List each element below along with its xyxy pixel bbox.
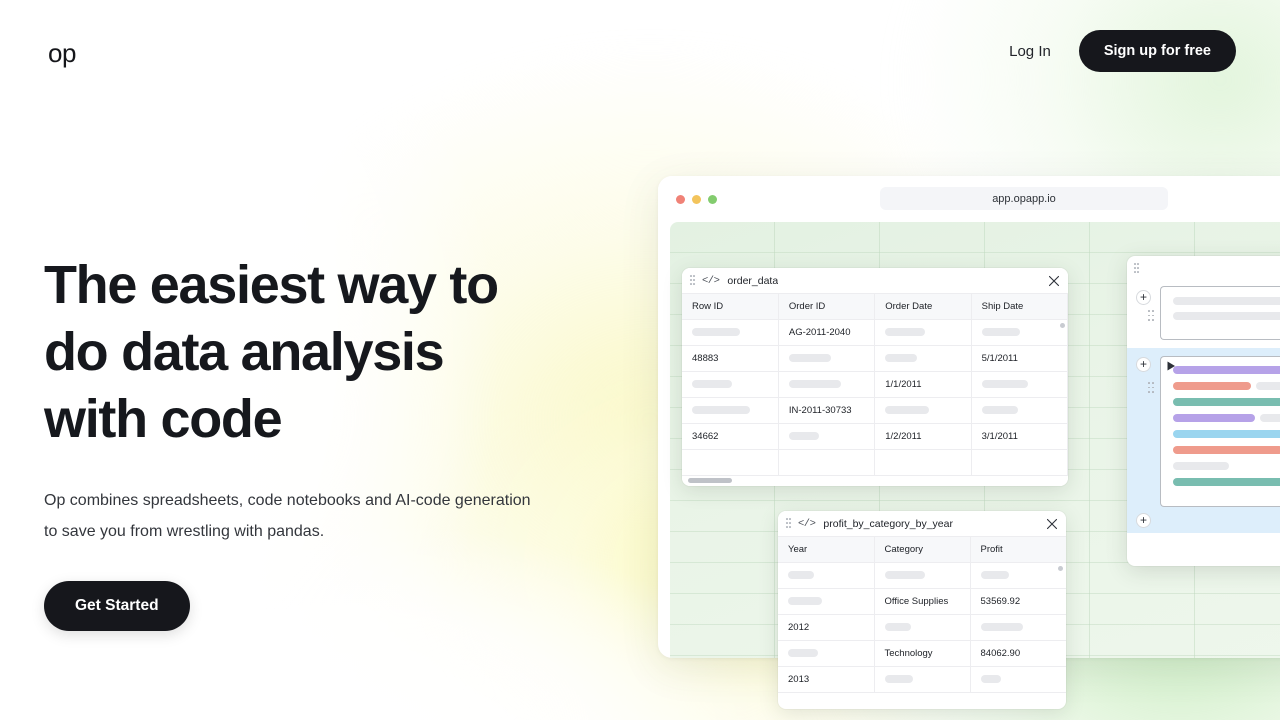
table-cell[interactable]: 5/1/2011 — [971, 346, 1067, 372]
table-cell[interactable]: 84062.90 — [970, 641, 1066, 667]
table-cell[interactable] — [970, 563, 1066, 589]
landing-page: op Log In Sign up for free The easiest w… — [0, 0, 1280, 720]
column-header[interactable]: Ship Date — [971, 294, 1067, 320]
table-header-row: Row IDOrder IDOrder DateShip Date — [682, 294, 1068, 320]
placeholder-bar — [789, 354, 831, 362]
cell-drag-handle-icon[interactable] — [1148, 382, 1154, 394]
placeholder-bar — [982, 328, 1020, 336]
table-cell[interactable] — [682, 398, 778, 424]
table-cell[interactable]: 48883 — [682, 346, 778, 372]
maximize-window-dot[interactable] — [708, 195, 717, 204]
column-header[interactable]: Row ID — [682, 294, 778, 320]
placeholder-bar — [885, 623, 911, 631]
subtitle-line-2: to save you from wrestling with pandas. — [44, 516, 574, 547]
horizontal-scrollbar-thumb[interactable] — [688, 478, 732, 483]
table-cell[interactable]: Technology — [874, 641, 970, 667]
table-cell[interactable]: IN-2011-30733 — [778, 398, 874, 424]
table-row[interactable]: 2012 — [778, 615, 1066, 641]
code-token — [1173, 430, 1280, 438]
placeholder-bar — [885, 354, 917, 362]
subtitle-line-1: Op combines spreadsheets, code notebooks… — [44, 485, 574, 516]
table-cell[interactable] — [874, 563, 970, 589]
traffic-lights — [676, 195, 717, 204]
header-nav: Log In Sign up for free — [1003, 30, 1236, 72]
code-line — [1173, 366, 1280, 374]
table-cell[interactable] — [875, 346, 971, 372]
get-started-button[interactable]: Get Started — [44, 581, 190, 631]
table-row[interactable]: 488835/1/2011 — [682, 346, 1068, 372]
table-row[interactable] — [682, 450, 1068, 476]
code-token — [1260, 414, 1280, 422]
headline-line-2: do data analysis — [44, 319, 624, 386]
table-cell[interactable] — [682, 320, 778, 346]
code-token — [1173, 398, 1280, 406]
headline-line-3: with code — [44, 386, 624, 453]
table-cell[interactable] — [778, 450, 874, 476]
code-line — [1173, 382, 1280, 390]
address-bar-url: app.opapp.io — [992, 193, 1056, 205]
table-cell[interactable] — [778, 424, 874, 450]
table-cell[interactable] — [970, 667, 1066, 693]
table-cell[interactable]: 1/2/2011 — [875, 424, 971, 450]
table-cell[interactable] — [778, 372, 874, 398]
panel-order-data[interactable]: </> order_data Row IDOrder IDOrder DateS… — [682, 268, 1068, 486]
code-line — [1173, 398, 1280, 406]
play-icon[interactable] — [1165, 359, 1177, 371]
browser-chrome: app.opapp.io — [658, 176, 1280, 222]
close-icon[interactable] — [1046, 518, 1058, 530]
panel-profit-header[interactable]: </> profit_by_category_by_year — [778, 511, 1066, 536]
code-line — [1173, 446, 1280, 454]
code-token — [1173, 414, 1255, 422]
table-cell[interactable] — [971, 320, 1067, 346]
code-token — [1173, 446, 1280, 454]
table-cell[interactable] — [970, 615, 1066, 641]
table-row[interactable]: AG-2011-2040 — [682, 320, 1068, 346]
cell-drag-handle-icon[interactable] — [1148, 310, 1154, 322]
close-icon[interactable] — [1048, 275, 1060, 287]
table-cell[interactable]: 3/1/2011 — [971, 424, 1067, 450]
notebook-cell-content[interactable] — [1160, 286, 1280, 340]
placeholder-bar — [788, 649, 818, 657]
table-profit-by-category[interactable]: YearCategoryProfitOffice Supplies53569.9… — [778, 536, 1066, 693]
headline-line-1: The easiest way to — [44, 252, 624, 319]
code-line — [1173, 430, 1280, 438]
table-cell[interactable] — [778, 563, 874, 589]
code-icon: </> — [702, 275, 719, 287]
code-token — [1173, 382, 1251, 390]
add-cell-button[interactable]: + — [1136, 357, 1151, 372]
placeholder-bar — [692, 328, 740, 336]
table-cell[interactable]: 2013 — [778, 667, 874, 693]
placeholder-bar — [981, 571, 1009, 579]
horizontal-scrollbar[interactable] — [682, 476, 1068, 486]
code-token — [1173, 366, 1280, 374]
panel-order-data-title: order_data — [727, 275, 778, 287]
placeholder-bar — [981, 623, 1023, 631]
table-row[interactable] — [778, 563, 1066, 589]
skeleton-line — [1173, 297, 1280, 305]
placeholder-bar — [885, 406, 929, 414]
panel-profit-by-category-by-year[interactable]: </> profit_by_category_by_year YearCateg… — [778, 511, 1066, 709]
table-row[interactable]: Office Supplies53569.92 — [778, 589, 1066, 615]
table-cell[interactable] — [875, 398, 971, 424]
table-cell[interactable] — [682, 372, 778, 398]
table-row[interactable]: Technology84062.90 — [778, 641, 1066, 667]
table-cell[interactable]: 53569.92 — [970, 589, 1066, 615]
address-bar[interactable]: app.opapp.io — [880, 187, 1168, 210]
placeholder-bar — [982, 406, 1018, 414]
add-cell-button-bottom[interactable]: + — [1136, 513, 1151, 528]
table-cell[interactable] — [778, 589, 874, 615]
hero-section: The easiest way to do data analysis with… — [44, 252, 624, 631]
column-header[interactable]: Profit — [970, 537, 1066, 563]
skeleton-line — [1173, 312, 1280, 320]
brand-logo[interactable]: op — [48, 40, 76, 66]
placeholder-bar — [982, 380, 1028, 388]
login-link[interactable]: Log In — [1003, 35, 1057, 68]
table-cell[interactable] — [971, 398, 1067, 424]
close-window-dot[interactable] — [676, 195, 685, 204]
column-header[interactable]: Category — [874, 537, 970, 563]
placeholder-bar — [981, 675, 1001, 683]
panel-profit-title: profit_by_category_by_year — [823, 518, 953, 530]
table-cell[interactable] — [778, 346, 874, 372]
table-cell[interactable]: Office Supplies — [874, 589, 970, 615]
table-cell[interactable] — [971, 372, 1067, 398]
column-header[interactable]: Order Date — [875, 294, 971, 320]
vertical-scrollbar[interactable] — [1060, 323, 1065, 328]
drag-handle-icon[interactable] — [786, 518, 791, 529]
table-cell[interactable]: 2012 — [778, 615, 874, 641]
signup-button[interactable]: Sign up for free — [1079, 30, 1236, 72]
placeholder-bar — [885, 328, 925, 336]
hero-subtitle: Op combines spreadsheets, code notebooks… — [44, 485, 574, 547]
notebook-cell-code-selected[interactable]: + + — [1127, 348, 1280, 533]
page-title: The easiest way to do data analysis with… — [44, 252, 624, 453]
placeholder-bar — [885, 675, 913, 683]
table-header-row: YearCategoryProfit — [778, 537, 1066, 563]
table-row[interactable]: 1/1/2011 — [682, 372, 1068, 398]
table-cell[interactable] — [778, 641, 874, 667]
table-cell[interactable] — [874, 667, 970, 693]
placeholder-bar — [789, 432, 819, 440]
vertical-scrollbar[interactable] — [1058, 566, 1063, 571]
column-header[interactable]: Order ID — [778, 294, 874, 320]
table-cell[interactable]: AG-2011-2040 — [778, 320, 874, 346]
table-cell[interactable]: 1/1/2011 — [875, 372, 971, 398]
site-header: op Log In Sign up for free — [0, 0, 1280, 104]
add-cell-button[interactable]: + — [1136, 290, 1151, 305]
table-cell[interactable] — [875, 450, 971, 476]
code-icon: </> — [798, 518, 815, 530]
code-token — [1256, 382, 1280, 390]
code-line — [1173, 462, 1280, 470]
placeholder-bar — [788, 597, 822, 605]
code-line — [1173, 478, 1280, 486]
code-token — [1173, 478, 1280, 486]
table-cell[interactable] — [875, 320, 971, 346]
panel-order-data-header[interactable]: </> order_data — [682, 268, 1068, 293]
table-cell[interactable] — [682, 450, 778, 476]
placeholder-bar — [692, 380, 732, 388]
table-row[interactable]: 2013 — [778, 667, 1066, 693]
placeholder-bar — [788, 571, 814, 579]
placeholder-bar — [885, 571, 925, 579]
placeholder-bar — [692, 406, 750, 414]
table-row[interactable]: IN-2011-30733 — [682, 398, 1068, 424]
drag-handle-icon[interactable] — [690, 275, 695, 286]
table-row[interactable]: 346621/2/20113/1/2011 — [682, 424, 1068, 450]
notebook-code-content[interactable] — [1160, 356, 1280, 507]
table-cell[interactable]: 34662 — [682, 424, 778, 450]
placeholder-bar — [789, 380, 841, 388]
code-line — [1173, 414, 1280, 422]
table-cell[interactable] — [971, 450, 1067, 476]
notebook-cell-markdown[interactable]: + — [1127, 256, 1280, 340]
code-token — [1173, 462, 1229, 470]
column-header[interactable]: Year — [778, 537, 874, 563]
notebook-panel[interactable]: + + + — [1127, 256, 1280, 566]
table-order-data[interactable]: Row IDOrder IDOrder DateShip DateAG-2011… — [682, 293, 1068, 476]
table-cell[interactable] — [874, 615, 970, 641]
minimize-window-dot[interactable] — [692, 195, 701, 204]
